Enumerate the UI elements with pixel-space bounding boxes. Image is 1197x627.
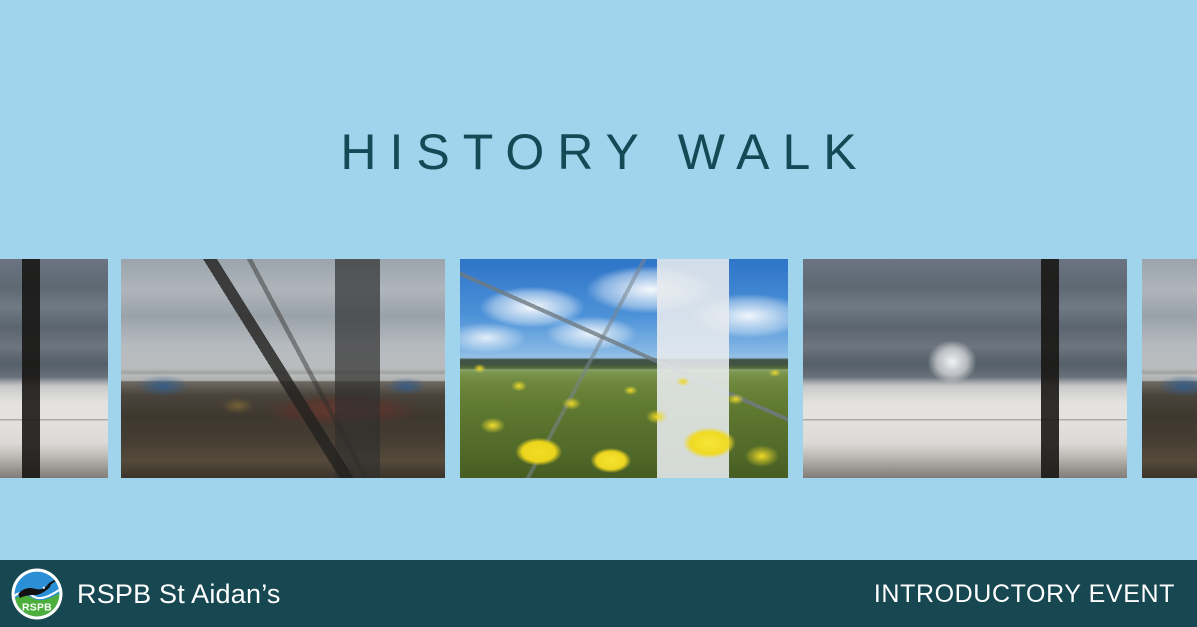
photo-dragline-right-crop [1142,259,1197,478]
rspb-wordmark: RSPB [22,602,52,613]
page-title: HISTORY WALK [0,124,1197,180]
title-area: HISTORY WALK [0,0,1197,259]
photo-dragline-excavation [121,259,445,478]
footer-bar: RSPB RSPB St Aidan’s INTRODUCTORY EVENT [0,560,1197,627]
footer-branding: RSPB RSPB St Aidan’s [11,568,281,620]
photo-buttercup-meadow-oddball [460,259,788,478]
photo-flood-breach [803,259,1127,478]
photo-flood-left-crop-image [0,259,108,478]
photo-dragline-right-crop-image [1142,259,1197,478]
presentation-slide: HISTORY WALK [0,0,1197,627]
image-strip [0,259,1197,478]
event-type-label: INTRODUCTORY EVENT [874,579,1175,609]
photo-buttercup-meadow-oddball-image [460,259,788,478]
organisation-name: RSPB St Aidan’s [77,578,281,610]
photo-dragline-excavation-image [121,259,445,478]
rspb-avocet-logo: RSPB [11,568,63,620]
photo-flood-breach-image [803,259,1127,478]
photo-flood-left-crop [0,259,108,478]
